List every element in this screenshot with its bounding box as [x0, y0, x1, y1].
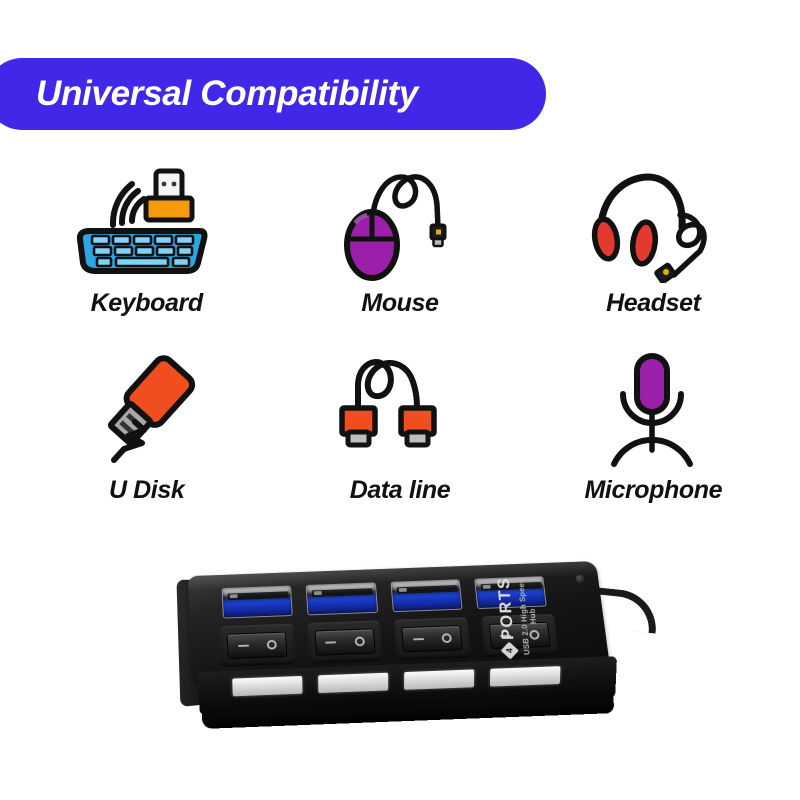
usb-port [306, 582, 378, 615]
rocker-switch-icon [401, 625, 463, 652]
led-indicator [318, 673, 388, 693]
hub-branding: 4 PORTS USB 2.0 High Speed Hub [494, 572, 592, 660]
computer-mouse-icon [325, 165, 475, 283]
compat-item-mouse: Mouse [273, 165, 526, 350]
usb-port [222, 586, 294, 619]
compat-label-udisk: U Disk [109, 476, 184, 505]
rocker-switch-icon [314, 628, 375, 655]
usb-hub-photo: 4 PORTS USB 2.0 High Speed Hub [170, 560, 670, 760]
switch-off-icon [267, 640, 277, 650]
wireless-keyboard-icon [72, 165, 222, 283]
led-indicator [490, 666, 561, 686]
header-banner: Universal Compatibility [0, 58, 546, 130]
led-indicator-row [232, 666, 572, 701]
compat-item-dataline: Data line [273, 350, 526, 535]
compat-item-microphone: Microphone [527, 350, 780, 535]
rocker-switch-icon [227, 632, 288, 659]
port-count-value: 4 [505, 648, 514, 653]
usb-data-cable-icon [325, 350, 475, 470]
power-switch[interactable] [219, 624, 295, 668]
headset-icon [578, 165, 728, 283]
usb-port [390, 579, 462, 612]
compat-item-headset: Headset [527, 165, 780, 350]
led-indicator [232, 676, 302, 696]
switch-off-icon [441, 633, 452, 643]
hub-ports-label: PORTS [494, 577, 518, 640]
usb-flash-drive-icon [72, 350, 222, 470]
port-count-badge-icon: 4 [500, 641, 518, 659]
compat-item-udisk: U Disk [20, 350, 273, 535]
compat-label-mouse: Mouse [361, 289, 438, 318]
infographic-page: Universal Compatibility [0, 0, 800, 800]
compat-label-keyboard: Keyboard [91, 289, 203, 318]
led-indicator [404, 669, 474, 689]
power-switch[interactable] [307, 620, 384, 663]
switch-on-icon [238, 645, 249, 647]
compat-label-microphone: Microphone [584, 476, 722, 505]
power-switch[interactable] [394, 617, 471, 660]
switch-on-icon [413, 638, 424, 640]
hub-spec-label: USB 2.0 High Speed Hub [516, 573, 541, 661]
compat-label-dataline: Data line [350, 476, 451, 505]
compat-label-headset: Headset [606, 289, 700, 318]
switch-off-icon [354, 636, 365, 646]
switch-on-icon [325, 641, 336, 643]
hub-body: 4 PORTS USB 2.0 High Speed Hub [192, 572, 612, 722]
microphone-icon [578, 350, 728, 470]
page-title: Universal Compatibility [36, 74, 418, 114]
compatibility-grid: Keyboard Mouse [20, 165, 780, 535]
compat-item-keyboard: Keyboard [20, 165, 273, 350]
